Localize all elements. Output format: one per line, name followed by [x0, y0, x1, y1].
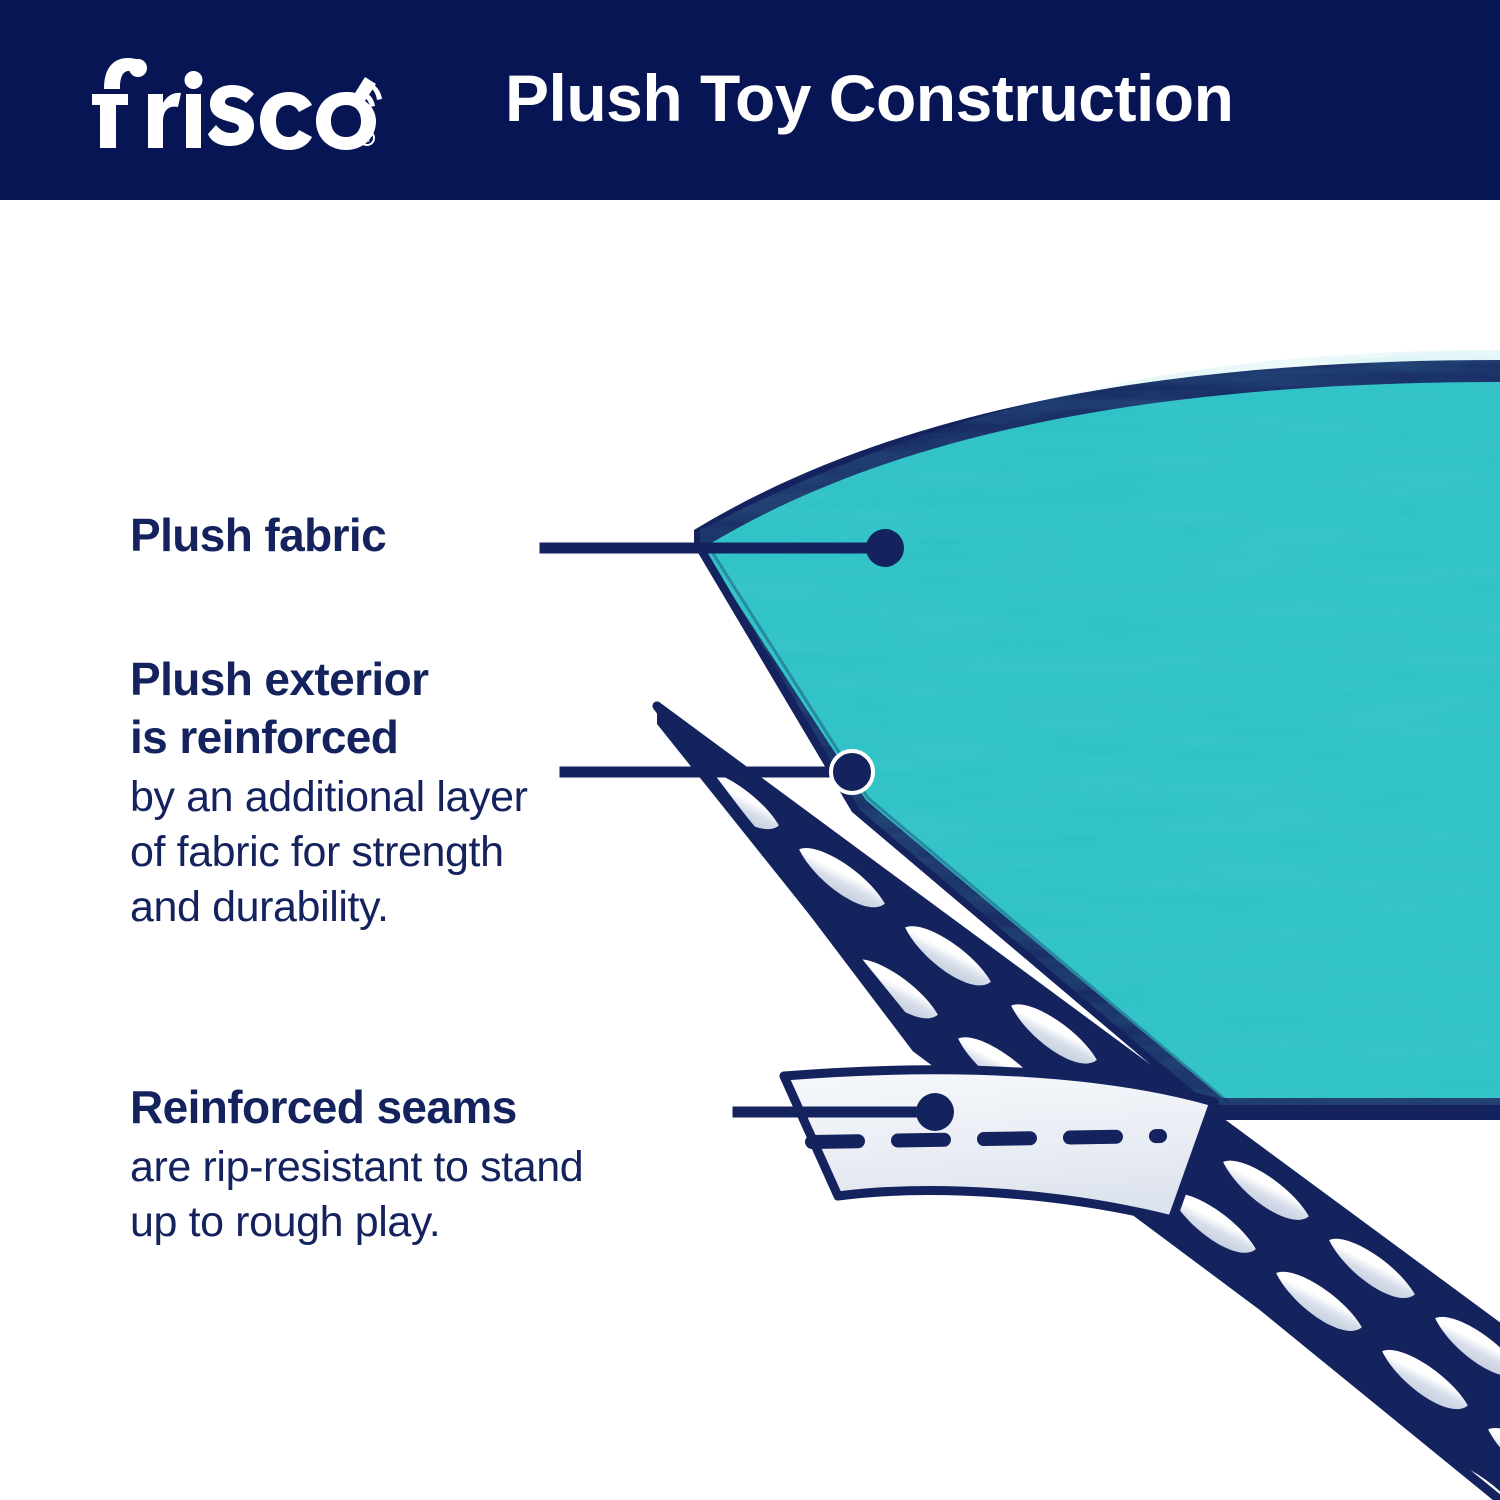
- page-title: Plush Toy Construction: [505, 48, 1405, 148]
- callout-reinforced-seams: Reinforced seams are rip-resistant to st…: [130, 1078, 583, 1250]
- infographic-page: R Plush Toy Construction: [0, 0, 1500, 1500]
- callout-plush-exterior-body: by an additional layer of fabric for str…: [130, 770, 528, 935]
- svg-text:R: R: [364, 134, 371, 144]
- callout-plush-exterior: Plush exterior is reinforced by an addit…: [130, 650, 528, 935]
- plush-fabric-teal-panel: [694, 360, 1500, 1120]
- callout-reinforced-seams-heading: Reinforced seams: [130, 1078, 583, 1136]
- callout-plush-exterior-heading: Plush exterior is reinforced: [130, 650, 528, 766]
- callout-plush-fabric-heading: Plush fabric: [130, 506, 386, 564]
- reinforced-seam-flap: [784, 1070, 1214, 1220]
- frisco-logo: R: [82, 46, 382, 151]
- callout-plush-fabric: Plush fabric: [130, 506, 386, 564]
- callout-reinforced-seams-body: are rip-resistant to stand up to rough p…: [130, 1140, 583, 1250]
- header-bar: R Plush Toy Construction: [0, 0, 1500, 200]
- frisco-wordmark-icon: R: [82, 46, 382, 151]
